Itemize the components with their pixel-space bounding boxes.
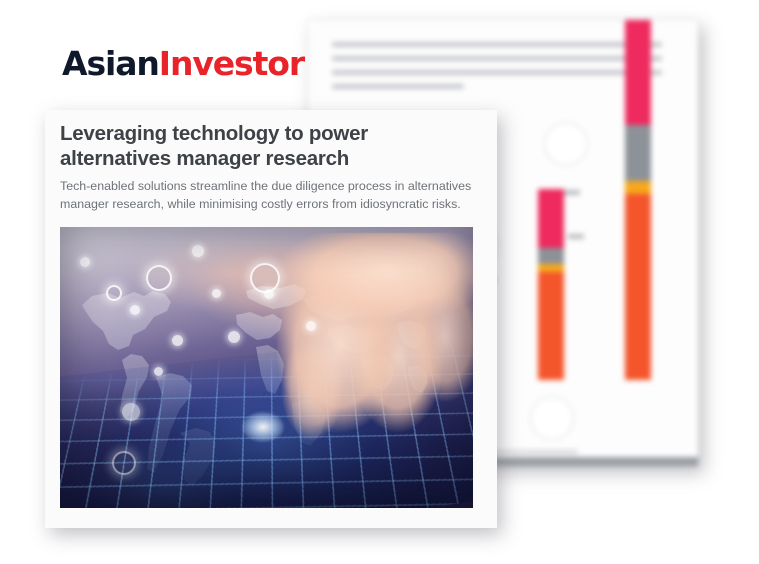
article-title: Leveraging technology to power alternati… [60, 121, 473, 171]
chart-bar-segment [625, 181, 651, 194]
text-line [332, 42, 662, 47]
screenshot-stage: AsianInvestor Leveraging technology to p… [0, 0, 759, 564]
logo-word-asian: Asian [62, 44, 159, 83]
chart-callout-badge [544, 122, 588, 166]
chart-bar-segment [538, 272, 564, 380]
logo-word-investor: Investor [159, 44, 304, 83]
text-line [332, 84, 464, 89]
article-subtitle: Tech-enabled solutions streamline the du… [60, 178, 483, 213]
asianinvestor-logo: AsianInvestor [62, 47, 304, 80]
chart-bar-segment [538, 189, 564, 248]
chart-annotation-tick [564, 190, 580, 195]
article-hero-image [60, 227, 473, 508]
chart-bar-segment [538, 248, 564, 263]
chart-bar [625, 20, 651, 380]
chart-callout-badge [530, 396, 574, 440]
chart-bar-segment [625, 20, 651, 125]
chart-annotation-tick [568, 234, 584, 239]
text-line [332, 56, 662, 61]
chart-bar-segment [625, 125, 651, 182]
text-line [332, 70, 662, 75]
chart-bar [538, 189, 564, 380]
chart-bar-segment [538, 264, 564, 272]
chart-bar-segment [625, 194, 651, 380]
photo-vignette [60, 227, 473, 508]
article-card[interactable]: Leveraging technology to power alternati… [45, 110, 497, 528]
background-paragraph [332, 42, 662, 98]
